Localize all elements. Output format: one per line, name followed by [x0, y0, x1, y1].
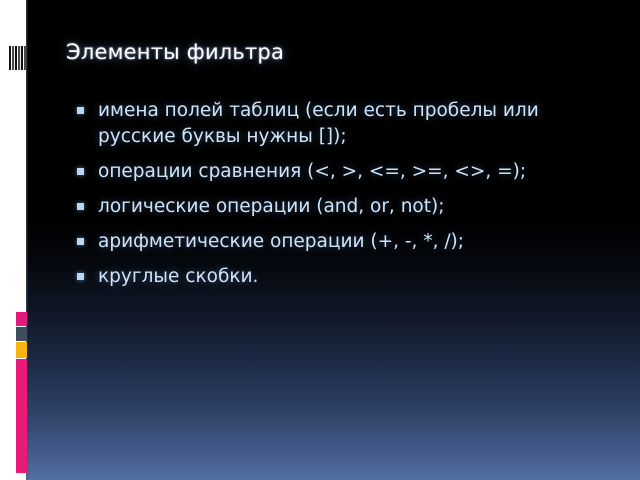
list-item: арифметические операции (+, -, *, /);: [72, 229, 632, 255]
list-item: операции сравнения (<, >, <=, >=, <>, =)…: [72, 159, 632, 185]
bullet-square-icon: [77, 168, 84, 175]
list-item-text: логические операции (and, or, not);: [98, 194, 603, 220]
list-item-text: арифметические операции (+, -, *, /);: [98, 229, 603, 255]
list-item-text: имена полей таблиц (если есть пробелы ил…: [98, 98, 603, 150]
slide-title: Элементы фильтра: [66, 40, 606, 64]
bullet-square-icon: [77, 238, 84, 245]
bullet-square-icon: [77, 107, 84, 114]
slate-bar: [16, 327, 27, 341]
bullet-square-icon: [77, 203, 84, 210]
striped-ornament-icon: [9, 46, 26, 70]
presentation-slide: Элементы фильтра имена полей таблиц (есл…: [0, 0, 640, 480]
bullet-square-icon: [77, 273, 84, 280]
list-item: логические операции (and, or, not);: [72, 194, 632, 220]
slide-content: Элементы фильтра имена полей таблиц (есл…: [28, 0, 640, 480]
list-item-text: операции сравнения (<, >, <=, >=, <>, =)…: [98, 159, 603, 185]
pink-long-bar: [16, 359, 27, 473]
list-item-text: круглые скобки.: [98, 264, 603, 290]
pink-top-bar: [16, 312, 27, 326]
list-item: круглые скобки.: [72, 264, 632, 290]
list-item: имена полей таблиц (если есть пробелы ил…: [72, 98, 632, 150]
amber-bar: [16, 342, 27, 358]
bullet-list: имена полей таблиц (если есть пробелы ил…: [72, 98, 632, 299]
